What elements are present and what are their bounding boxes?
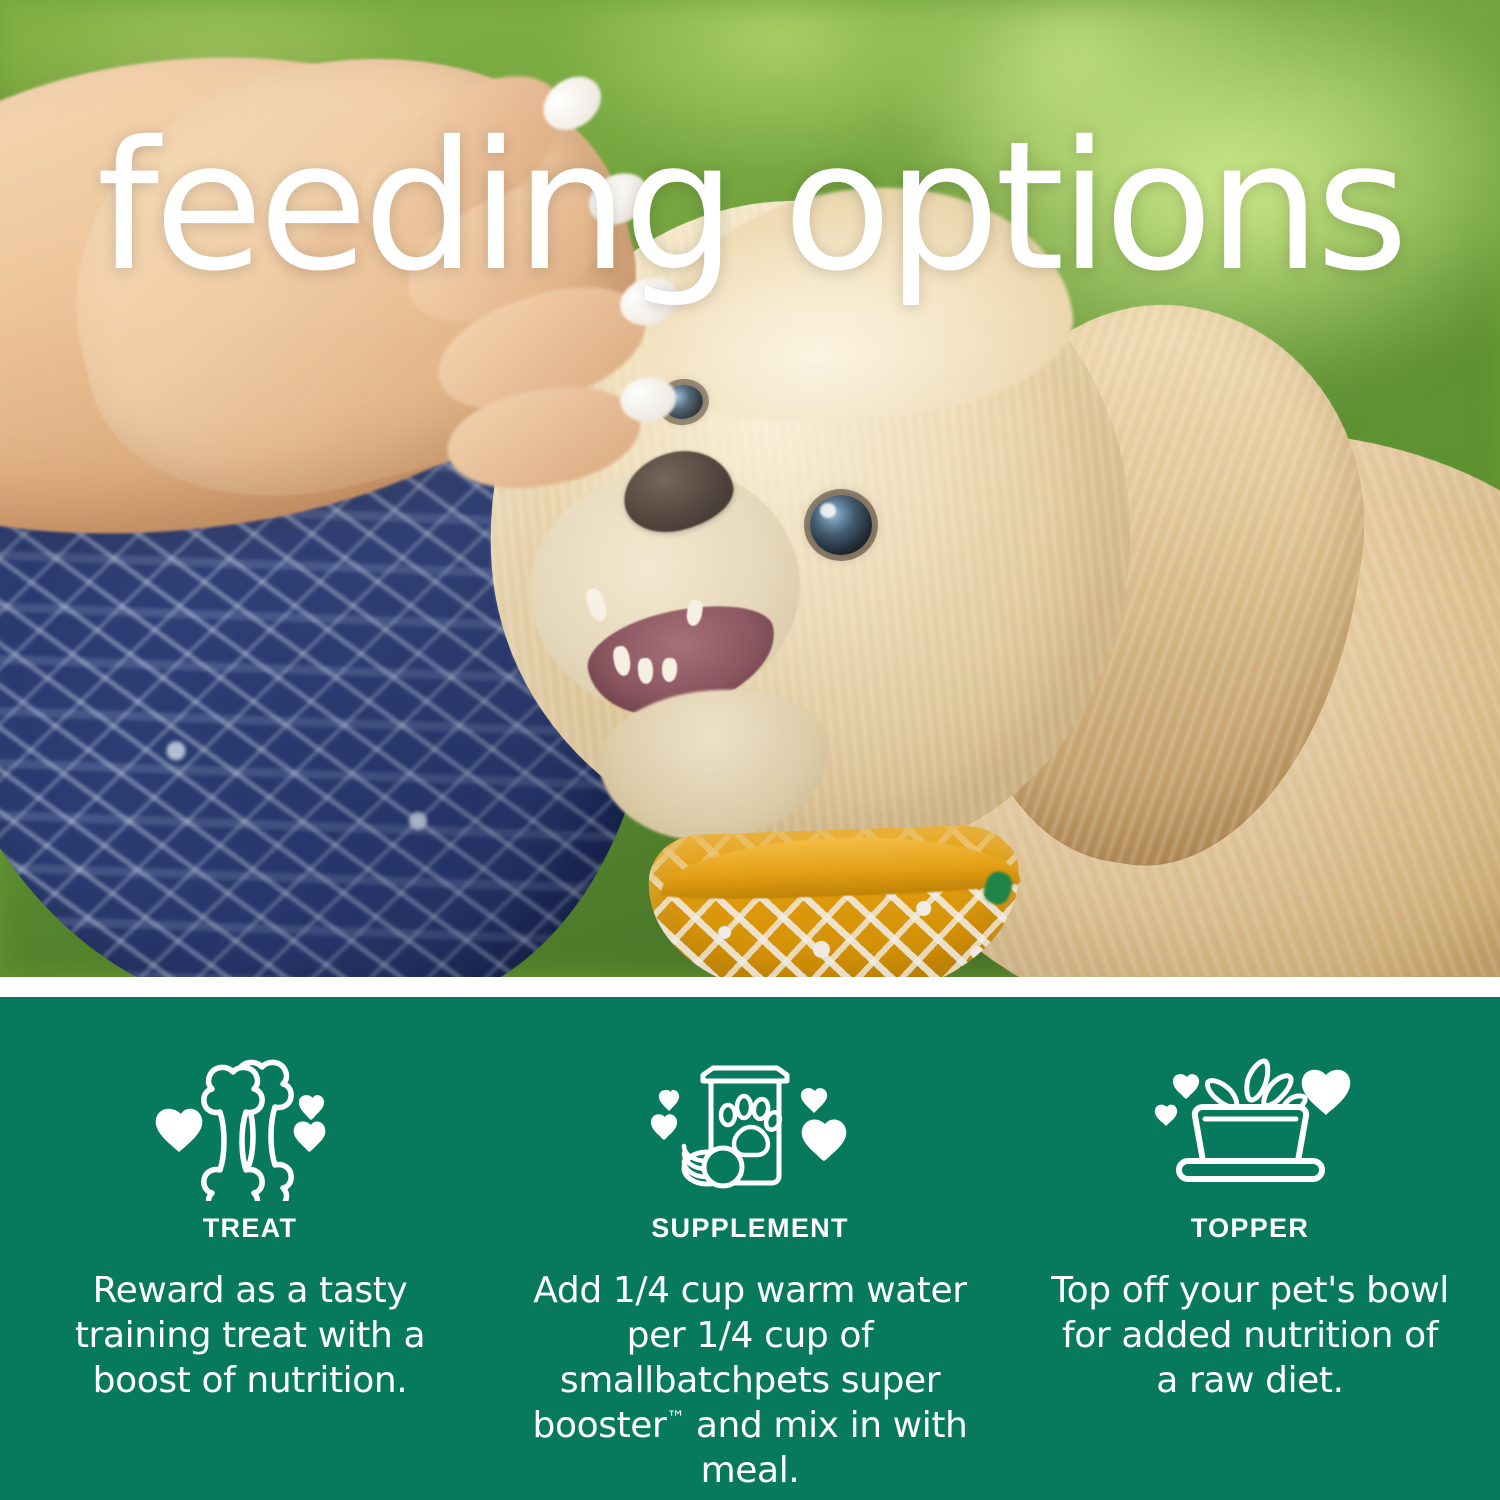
trademark-symbol: ™ [666,1408,684,1429]
pet-bowl-food-hearts-icon [1143,1051,1358,1201]
page-title: feeding options [0,118,1500,296]
feeding-options-infographic: feeding options TREAT Reward as a ta [0,0,1500,1500]
hero-photo: feeding options [0,0,1500,977]
dog-bone-hearts-icon [150,1051,350,1201]
feeding-option-description: Add 1/4 cup warm water per 1/4 cup of sm… [522,1268,978,1493]
feeding-option-description: Reward as a tasty training treat with a … [50,1268,450,1403]
feeding-options-panel: TREAT Reward as a tasty training treat w… [0,997,1500,1500]
feeding-option-topper: TOPPER Top off your pet's bowl for added… [1000,997,1500,1500]
feeding-option-title: TOPPER [1191,1213,1309,1244]
feeding-option-treat: TREAT Reward as a tasty training treat w… [0,997,500,1500]
feeding-option-title: SUPPLEMENT [651,1213,849,1244]
desc-after-tm: and mix in with meal. [685,1405,968,1491]
dog-eye-right [810,495,872,555]
feeding-option-title: TREAT [203,1213,298,1244]
feeding-option-description: Top off your pet's bowl for added nutrit… [1050,1268,1450,1403]
feeding-option-supplement: SUPPLEMENT Add 1/4 cup warm water per 1/… [500,997,1000,1500]
food-bag-paw-hearts-icon [635,1051,865,1201]
